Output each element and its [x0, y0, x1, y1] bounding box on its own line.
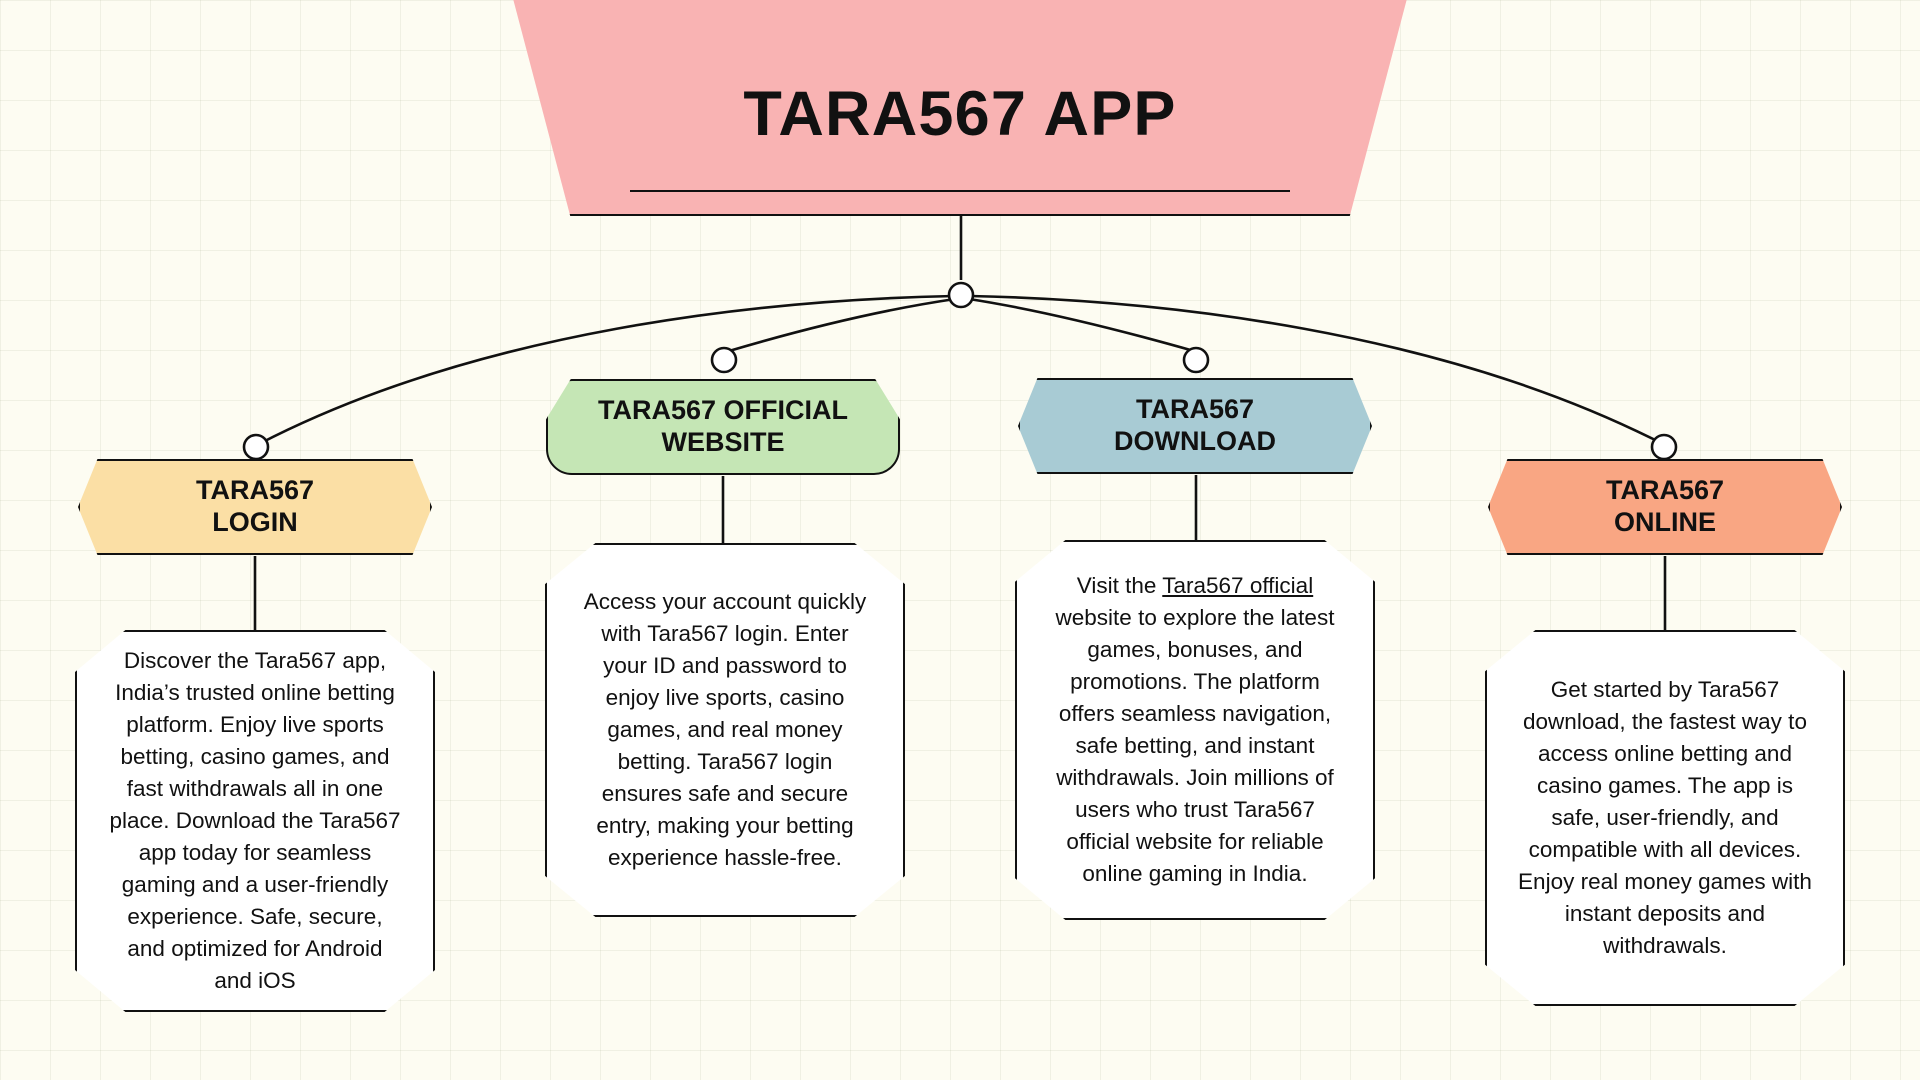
branch-body-official-website: Access your account quickly with Tara567… [545, 543, 905, 917]
title-underline-rule [630, 190, 1290, 193]
hub-node[interactable] [949, 283, 973, 307]
branch-header-official-website[interactable]: TARA567 OFFICIAL WEBSITE [546, 379, 900, 475]
download-text-suffix: website to explore the latest games, bon… [1056, 605, 1335, 886]
branch-body-official-website-text: Access your account quickly with Tara567… [577, 586, 873, 873]
diagram-title-banner: TARA567 APP [496, 0, 1424, 216]
mindmap-canvas: TARA567 APP TARA567 LOGIN TARA567 OFFICI… [0, 0, 1920, 1080]
node-dot-download[interactable] [1184, 348, 1208, 372]
branch-body-download-text: Visit the Tara567 official website to ex… [1047, 570, 1343, 889]
branch-header-download-label: TARA567 DOWNLOAD [1114, 394, 1276, 457]
page-title: TARA567 APP [743, 81, 1176, 147]
branch-header-download[interactable]: TARA567 DOWNLOAD [1018, 378, 1372, 474]
branch-header-official-website-label: TARA567 OFFICIAL WEBSITE [598, 395, 848, 458]
branch-header-login[interactable]: TARA567 LOGIN [78, 459, 432, 555]
branch-body-download: Visit the Tara567 official website to ex… [1015, 540, 1375, 920]
branch-body-online-text: Get started by Tara567 download, the fas… [1517, 674, 1813, 961]
node-dot-website[interactable] [712, 348, 736, 372]
branch-header-online[interactable]: TARA567 ONLINE [1488, 459, 1842, 555]
branch-header-online-label: TARA567 ONLINE [1606, 475, 1724, 538]
branch-body-login-text: Discover the Tara567 app, India’s truste… [107, 645, 403, 996]
node-dot-login[interactable] [244, 435, 268, 459]
node-dot-online[interactable] [1652, 435, 1676, 459]
tara567-official-link[interactable]: Tara567 official [1162, 573, 1313, 598]
download-text-prefix: Visit the [1077, 573, 1162, 598]
branch-body-online: Get started by Tara567 download, the fas… [1485, 630, 1845, 1006]
branch-body-login: Discover the Tara567 app, India’s truste… [75, 630, 435, 1012]
branch-header-login-label: TARA567 LOGIN [196, 475, 314, 538]
